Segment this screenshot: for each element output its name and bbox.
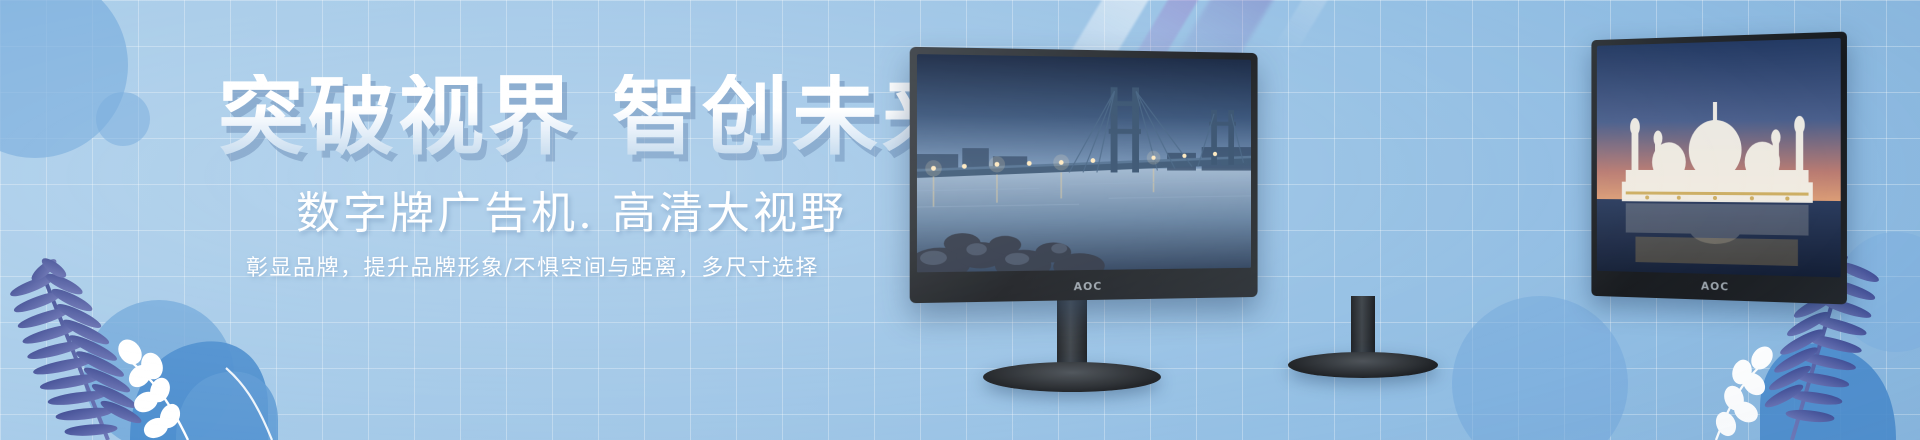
brand-logo-front: AOC xyxy=(1074,280,1103,293)
tagline-text: 彰显品牌，提升品牌形象/不惧空间与距离，多尺寸选择 xyxy=(246,258,819,280)
monitor-front: AOC xyxy=(896,0,1248,440)
copy-block: 突破视界 智创未来 数字牌广告机. 高清大视野 彰显品牌，提升品牌形象/不惧空间… xyxy=(0,0,900,440)
promo-banner: 突破视界 智创未来 数字牌广告机. 高清大视野 彰显品牌，提升品牌形象/不惧空间… xyxy=(0,0,1920,440)
sprig-white-outline-right xyxy=(1713,343,1777,440)
monitor-back-screen xyxy=(1597,38,1841,277)
monitor-back-base xyxy=(1288,352,1438,378)
page-title: 突破视界 智创未来 xyxy=(218,74,972,160)
monitor-front-base xyxy=(983,362,1161,392)
monitor-back-neck xyxy=(1351,296,1375,360)
subtitle: 数字牌广告机. 高清大视野 xyxy=(296,192,847,236)
decorative-circle-right xyxy=(1836,232,1920,352)
brand-logo-back: AOC xyxy=(1701,280,1729,294)
monitor-back: AOC xyxy=(1232,0,1494,440)
monitor-front-neck xyxy=(1057,298,1087,370)
leaf-blue-cluster-right xyxy=(1760,343,1896,440)
product-images: AOC xyxy=(880,0,1580,440)
monitor-front-screen xyxy=(917,54,1251,272)
